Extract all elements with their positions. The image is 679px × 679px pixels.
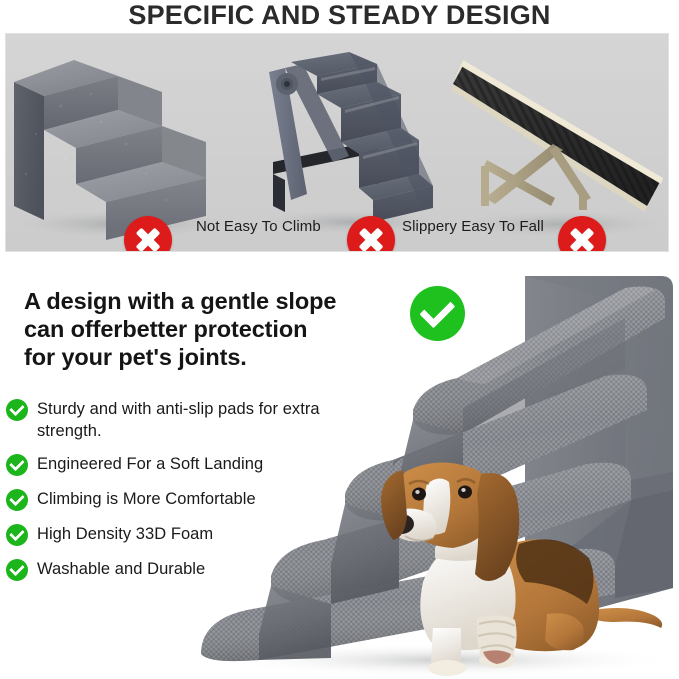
benefits-list: Sturdy and with anti-slip pads for extra… <box>6 398 336 593</box>
list-item: Sturdy and with anti-slip pads for extra… <box>6 398 336 442</box>
check-mark-icon <box>6 524 28 546</box>
comparison-panel <box>5 33 669 252</box>
headline-line-2: can offerbetter protection <box>24 315 354 343</box>
benefit-label: High Density 33D Foam <box>28 523 213 545</box>
list-item: Washable and Durable <box>6 558 336 582</box>
benefit-label: Sturdy and with anti-slip pads for extra… <box>28 398 336 442</box>
list-item: Climbing is More Comfortable <box>6 488 336 512</box>
main-headline: A design with a gentle slope can offerbe… <box>24 287 354 371</box>
check-mark-icon <box>6 489 28 511</box>
check-mark-icon <box>6 454 28 476</box>
check-mark-icon <box>6 559 28 581</box>
list-item: Engineered For a Soft Landing <box>6 453 336 477</box>
product-infographic: SPECIFIC AND STEADY DESIGN <box>0 0 679 679</box>
page-title: SPECIFIC AND STEADY DESIGN <box>0 0 679 30</box>
check-mark-icon <box>6 399 28 421</box>
headline-line-1: A design with a gentle slope <box>24 287 354 315</box>
comparison-caption-slippery-easy-to-fall: Slippery Easy To Fall <box>402 218 544 235</box>
benefit-label: Engineered For a Soft Landing <box>28 453 263 475</box>
benefit-label: Washable and Durable <box>28 558 205 580</box>
list-item: High Density 33D Foam <box>6 523 336 547</box>
headline-line-3: for your pet's joints. <box>24 343 354 371</box>
benefit-label: Climbing is More Comfortable <box>28 488 256 510</box>
check-mark-icon <box>410 286 465 341</box>
comparison-caption-not-easy-to-climb: Not Easy To Climb <box>196 218 321 235</box>
